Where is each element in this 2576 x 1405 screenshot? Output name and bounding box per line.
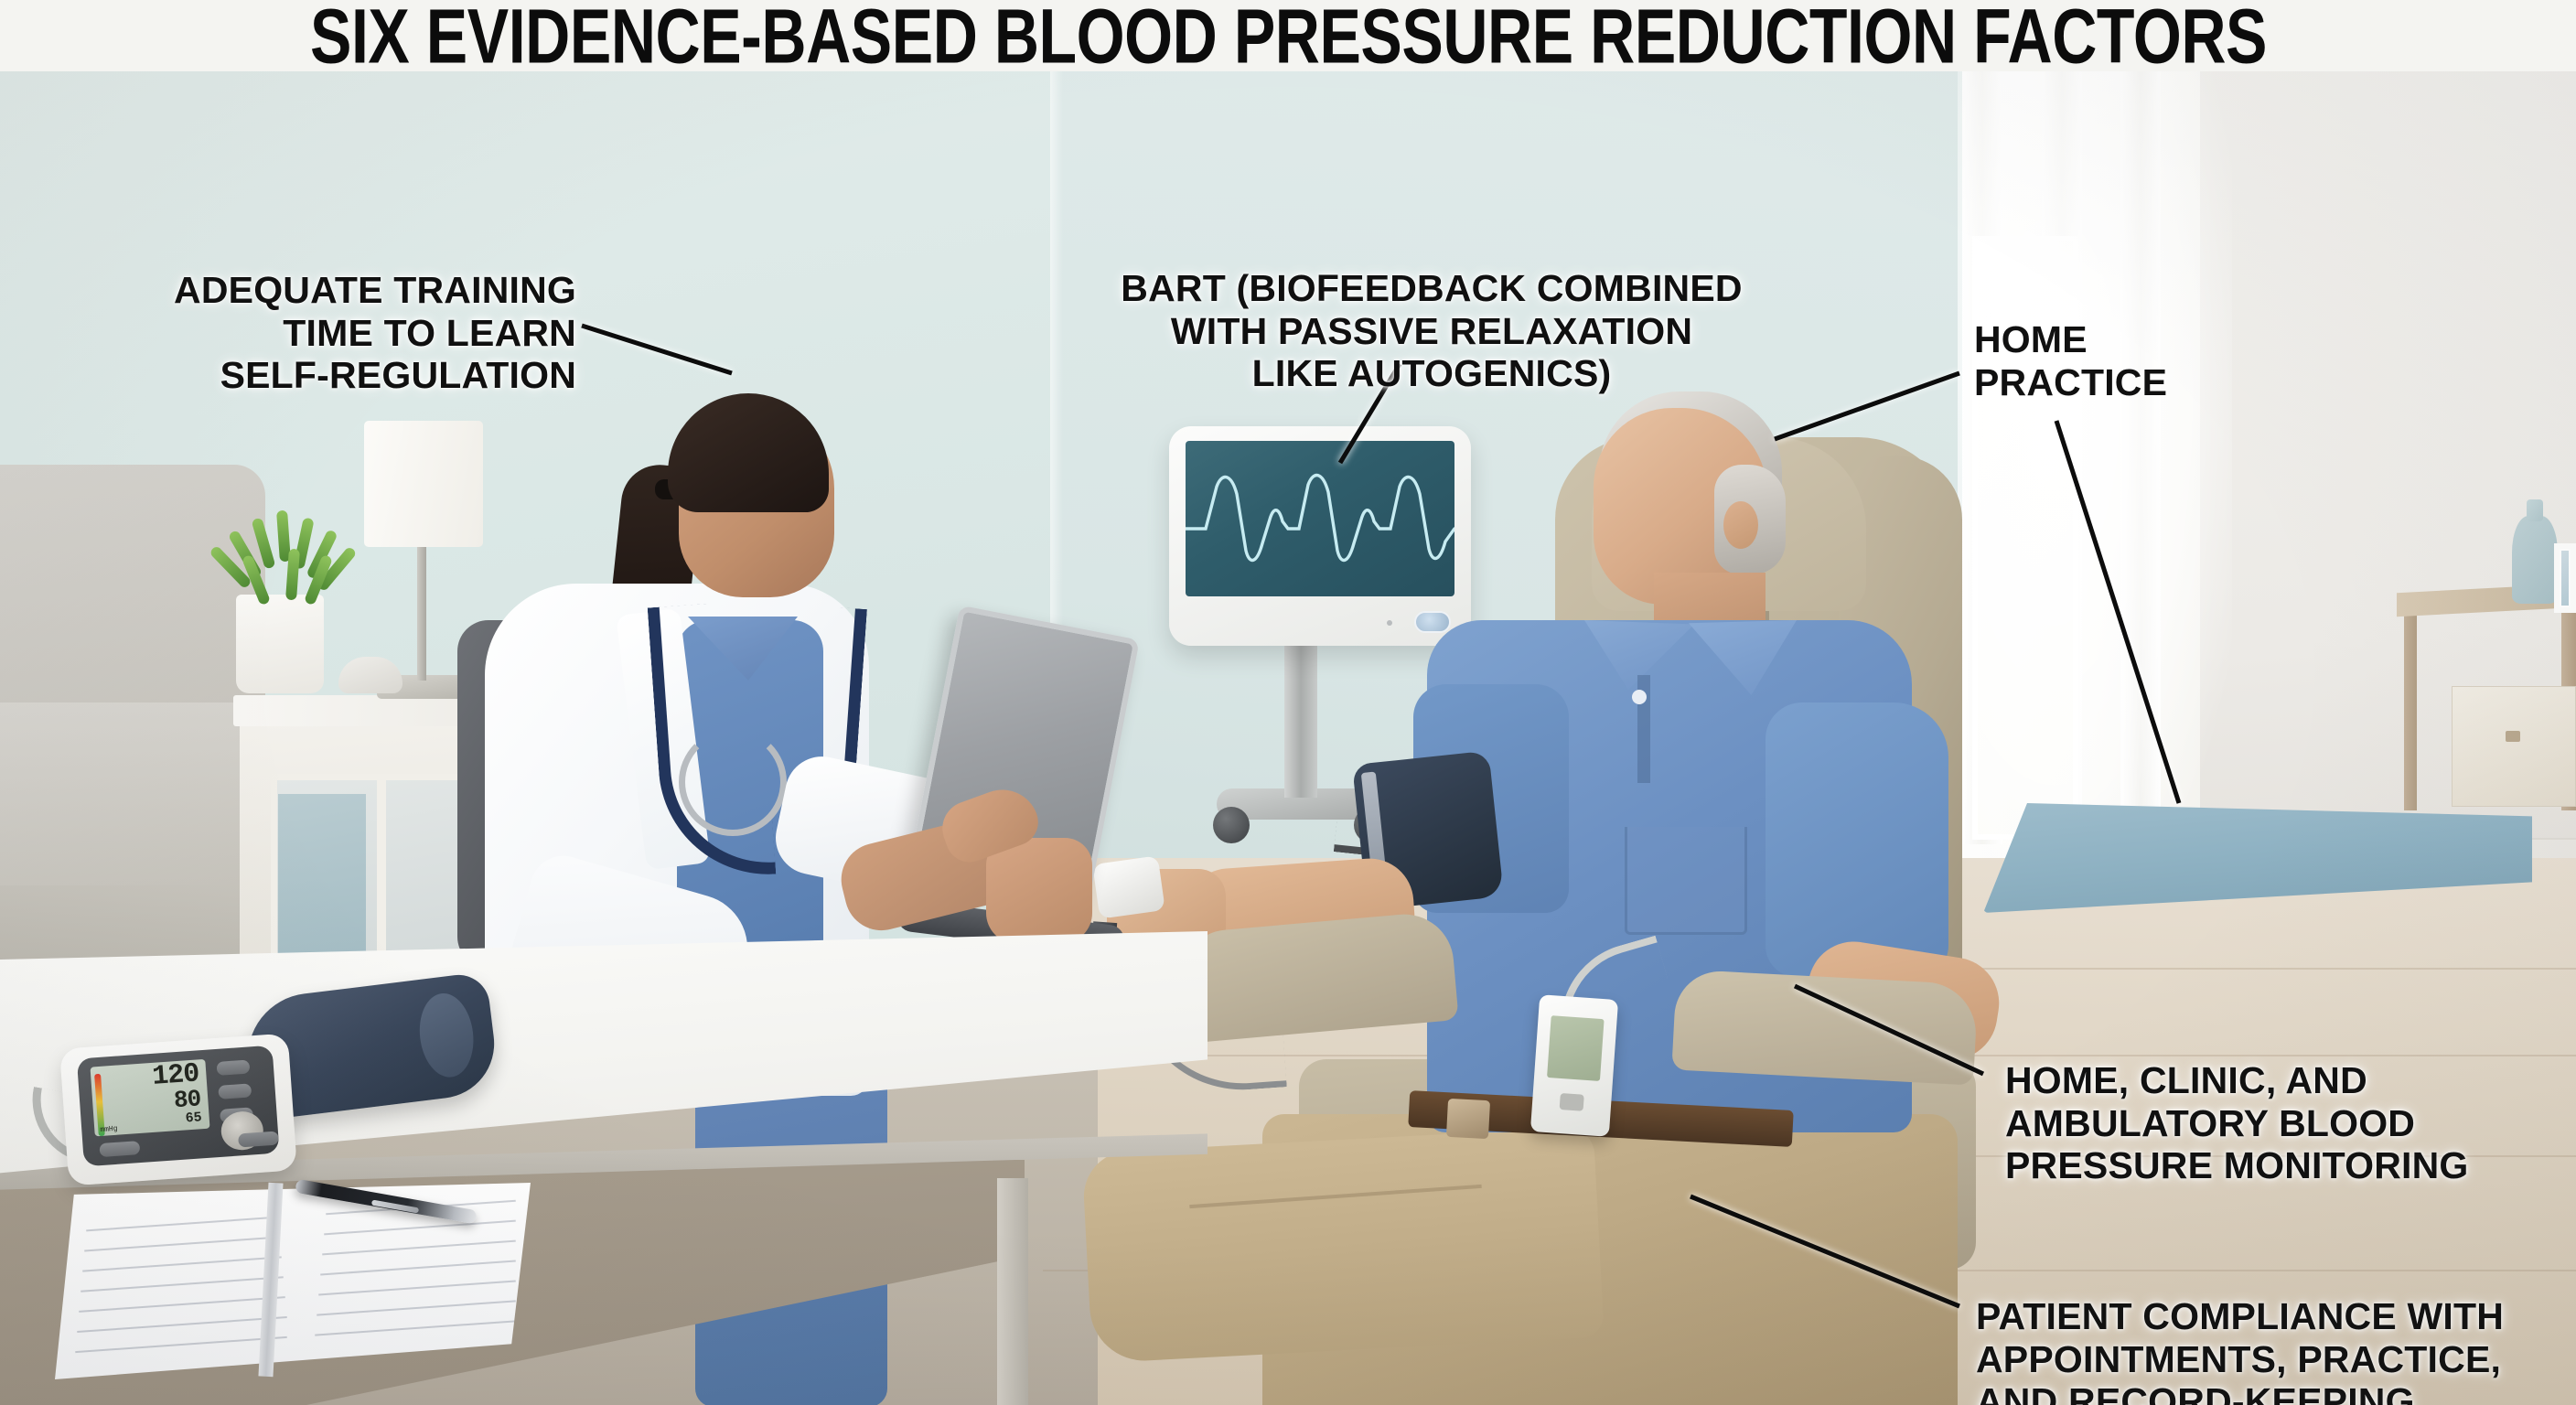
annotation-line: LIKE AUTOGENICS) <box>1111 352 1752 395</box>
annotation-line: AND RECORD-KEEPING <box>1976 1380 2561 1405</box>
annotation-line: HOME, CLINIC, AND <box>2005 1059 2554 1102</box>
annotation-bp-monitoring: HOME, CLINIC, AND AMBULATORY BLOOD PRESS… <box>2005 1059 2554 1187</box>
annotation-line: PATIENT COMPLIANCE WITH <box>1976 1295 2561 1338</box>
annotation-line: AMBULATORY BLOOD <box>2005 1102 2554 1145</box>
annotation-line: APPOINTMENTS, PRACTICE, <box>1976 1338 2561 1381</box>
annotation-line: SELF-REGULATION <box>137 354 576 397</box>
annotation-adequate-training: ADEQUATE TRAINING TIME TO LEARN SELF-REG… <box>137 269 576 397</box>
annotation-line: PRESSURE MONITORING <box>2005 1144 2554 1187</box>
scene-photograph: 120 80 65 mmHg <box>0 71 2576 1405</box>
annotation-bart: BART (BIOFEEDBACK COMBINED WITH PASSIVE … <box>1111 267 1752 395</box>
annotation-line: TIME TO LEARN <box>137 312 576 355</box>
annotation-line: ADEQUATE TRAINING <box>137 269 576 312</box>
annotation-patient-compliance: PATIENT COMPLIANCE WITH APPOINTMENTS, PR… <box>1976 1295 2561 1405</box>
annotation-line: WITH PASSIVE RELAXATION <box>1111 310 1752 353</box>
annotation-line: BART (BIOFEEDBACK COMBINED <box>1111 267 1752 310</box>
annotation-home-practice: HOME PRACTICE <box>1974 318 2340 403</box>
annotation-line: PRACTICE <box>1974 361 2340 404</box>
annotation-line: HOME <box>1974 318 2340 361</box>
page-title: SIX EVIDENCE-BASED BLOOD PRESSURE REDUCT… <box>309 0 2266 80</box>
infographic-canvas: SIX EVIDENCE-BASED BLOOD PRESSURE REDUCT… <box>0 0 2576 1405</box>
title-band: SIX EVIDENCE-BASED BLOOD PRESSURE REDUCT… <box>0 0 2576 71</box>
